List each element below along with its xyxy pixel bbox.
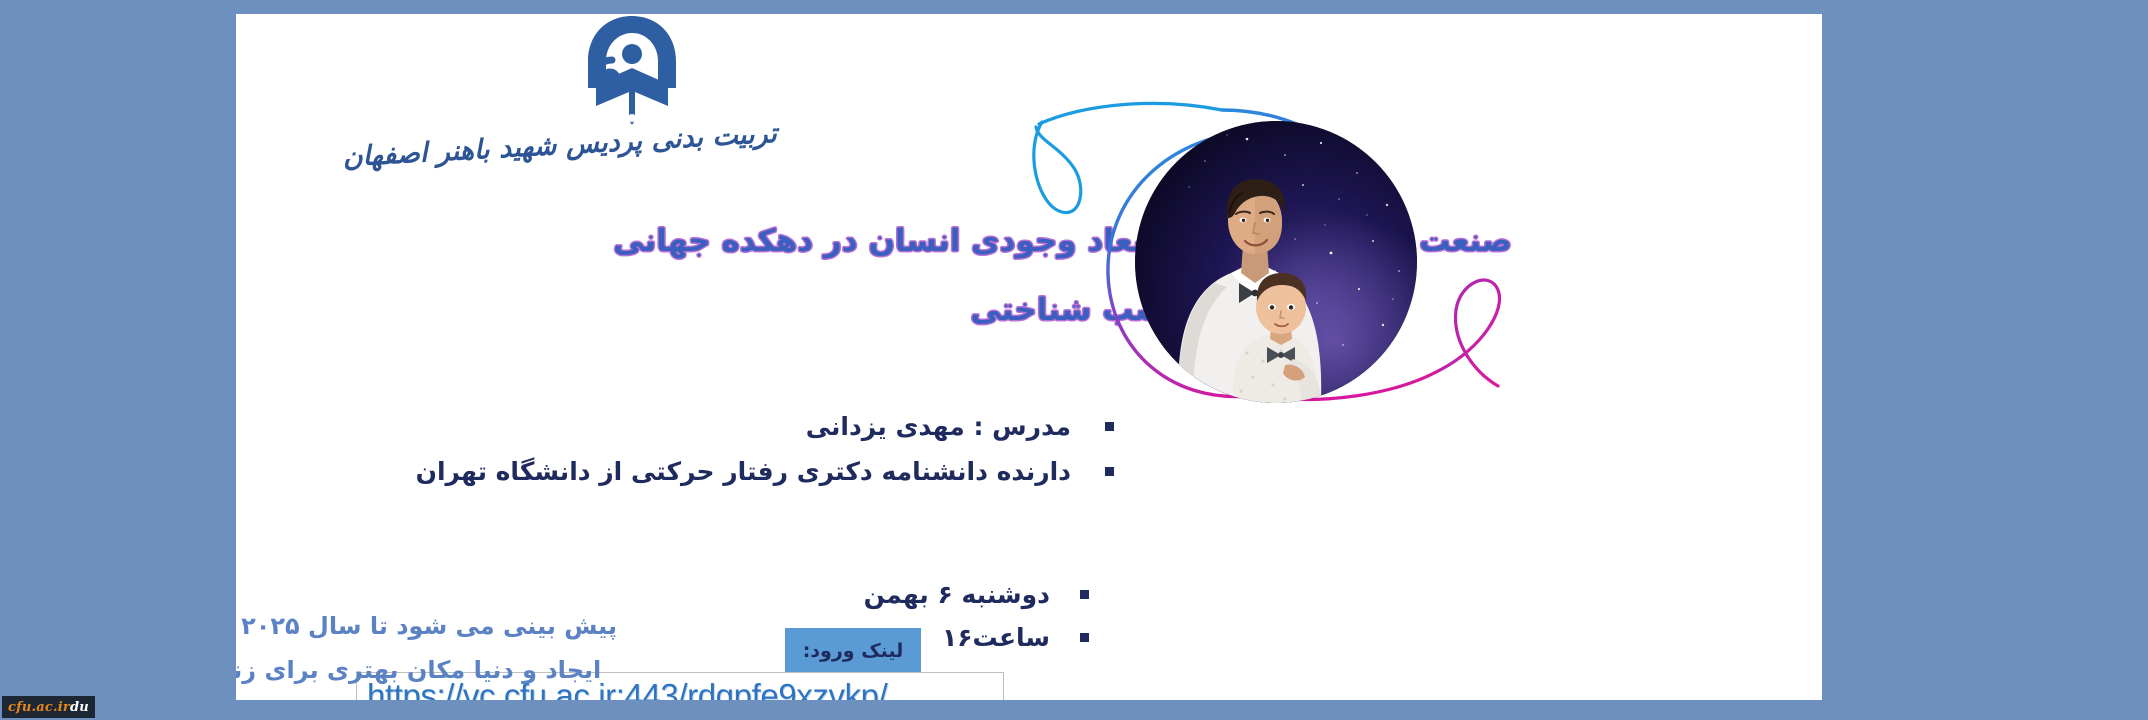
presenter-name-label: مدرس : مهدی یزدانی xyxy=(806,412,1071,441)
slide-bottom-edge xyxy=(236,700,1822,720)
forecast-tagline: پیش بینی می شود تا سال ۲۰۲۵ صدهزارشغل جد… xyxy=(236,604,617,693)
watermark-prefix: du xyxy=(70,700,89,715)
list-item: دوشنبه ۶ بهمن xyxy=(827,580,1307,609)
event-date-label: دوشنبه ۶ بهمن xyxy=(864,580,1050,609)
presenter-credentials-label: دارنده دانشنامه دکتری رفتار حرکتی از دان… xyxy=(416,457,1071,486)
site-watermark-badge: du cfu.ac.ir xyxy=(2,696,95,718)
university-logo-block: تربیت بدنی پردیس شهید باهنر اصفهان xyxy=(487,14,777,199)
tagline-line-2: ایجاد و دنیا مکان بهتری برای زندگی شود. xyxy=(236,648,617,692)
farhangian-university-emblem-icon xyxy=(582,14,682,124)
square-bullet-icon xyxy=(1080,633,1089,642)
login-link-button[interactable]: لینک ورود: xyxy=(785,628,921,674)
square-bullet-icon xyxy=(1080,590,1089,599)
presenter-photo-cluster xyxy=(1056,84,1516,444)
square-bullet-icon xyxy=(1105,467,1114,476)
event-time-label: ساعت۱۶ xyxy=(942,623,1050,652)
list-item: دارنده دانشنامه دکتری رفتار حرکتی از دان… xyxy=(717,457,1512,486)
tagline-line-1: پیش بینی می شود تا سال ۲۰۲۵ صدهزارشغل جد… xyxy=(236,604,617,648)
watermark-domain: cfu.ac.ir xyxy=(8,700,70,715)
poster-slide: تربیت بدنی پردیس شهید باهنر اصفهان صنعت … xyxy=(236,14,1822,700)
university-logo-caption: تربیت بدنی پردیس شهید باهنر اصفهان xyxy=(486,118,777,165)
presenter-avatar xyxy=(1135,121,1417,403)
